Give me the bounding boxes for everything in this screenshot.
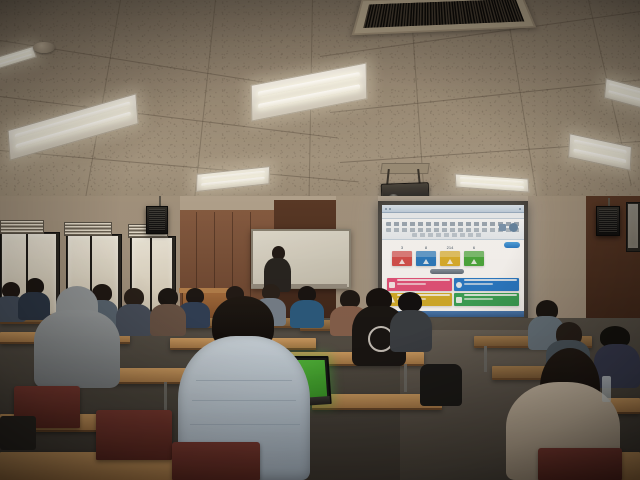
primary-action-button[interactable] [504,242,520,248]
section-pill-button[interactable] [430,269,464,274]
chair[interactable] [96,410,172,460]
louver-vent-2 [64,222,112,236]
stat-card[interactable]: 8 [416,251,436,266]
app-title-bar [382,205,524,213]
person-icon [389,282,395,288]
attendee-hair-cap [398,292,422,312]
stat-card[interactable]: 214 [440,251,460,266]
shirt-fold [190,424,300,425]
chair[interactable] [538,448,622,480]
speaker-left [146,206,168,234]
app-ribbon[interactable] [382,219,524,240]
ceiling [0,0,640,215]
shirt-fold [192,400,296,401]
ribbon-icon[interactable] [499,224,506,231]
window-dot [385,208,387,210]
stat-card-header [440,251,460,257]
attendee [150,304,186,336]
stat-card-row: 3 8 214 6 [392,251,484,266]
info-panel[interactable] [454,293,519,306]
speaker-right [596,206,620,236]
stat-card[interactable]: 6 [464,251,484,266]
water-bottle [602,376,611,402]
stat-card-icon [471,259,477,264]
stat-card-number: 6 [473,245,475,250]
window-close-icon[interactable] [519,208,521,210]
chair[interactable] [172,442,260,480]
smoke-detector-icon [33,42,55,53]
gear-icon [456,282,462,288]
attendee-gray-hoodie [34,310,120,388]
stat-card-number: 3 [401,245,403,250]
stat-card-header [392,251,412,257]
stat-card[interactable]: 3 [392,251,412,266]
stat-card-number: 8 [425,245,427,250]
attendee [594,344,640,388]
stat-card-number: 214 [447,245,454,250]
classroom-photo: 3 8 214 6 [0,0,640,480]
info-panel[interactable] [387,278,452,291]
ribbon-icon[interactable] [509,223,518,232]
stat-card-header [416,251,436,257]
stat-card-icon [399,259,405,264]
louver-vent-1 [0,220,44,234]
attendee [290,300,324,328]
attendee [116,304,152,336]
attendee [18,292,50,320]
backpack [0,416,36,450]
window-dot [389,208,391,210]
ac-grille [363,0,524,28]
info-panel[interactable] [454,278,519,291]
shirt-fold [196,380,292,381]
attendee [390,310,432,352]
stat-card-icon [447,259,453,264]
stat-card-icon [423,259,429,264]
document-icon [456,297,462,303]
backpack [420,364,462,406]
stat-card-header [464,251,484,257]
